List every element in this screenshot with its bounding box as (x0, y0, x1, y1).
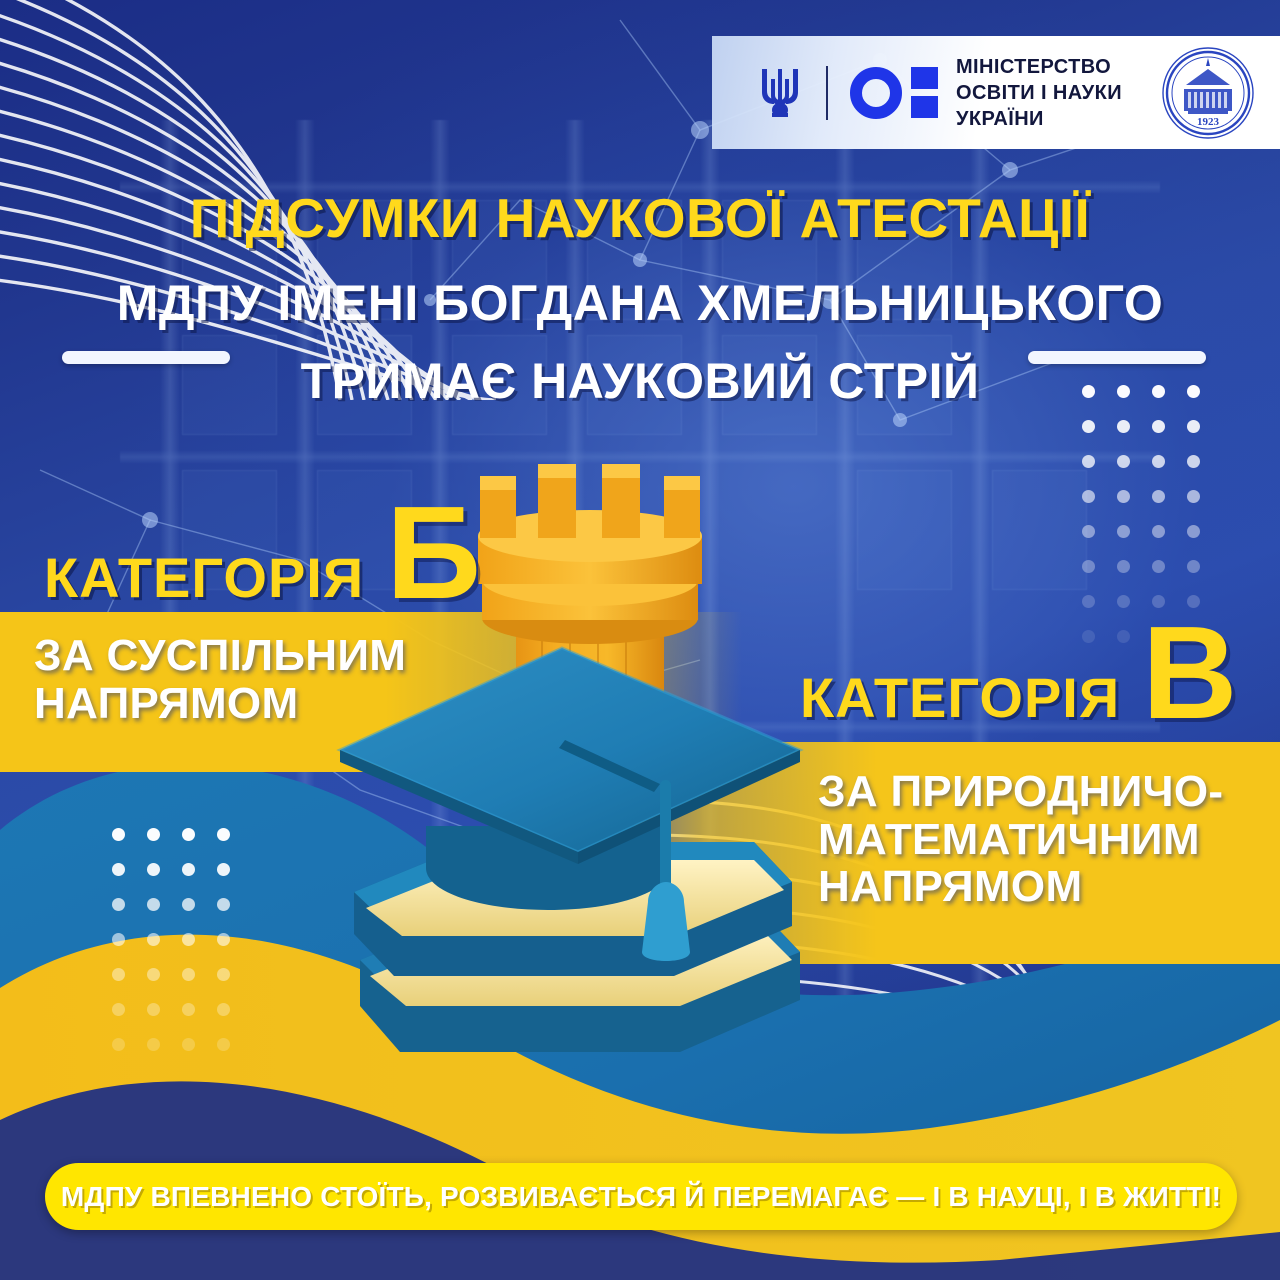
title-line-2: МДПУ ІМЕНІ БОГДАНА ХМЕЛЬНИЦЬКОГО (0, 274, 1280, 332)
ukraine-trident-icon (758, 65, 802, 121)
category-v-subtitle-line-1: ЗА ПРИРОДНИЧО- (818, 768, 1223, 816)
category-v-letter: В (1142, 620, 1237, 726)
category-b-word: КАТЕГОРІЯ (44, 550, 364, 606)
mdpu-university-seal-icon: 1923 (1160, 45, 1256, 141)
seal-year: 1923 (1197, 116, 1220, 128)
dot-grid-left (112, 828, 230, 1051)
category-b-subtitle-line-1: ЗА СУСПІЛЬНИМ (34, 632, 406, 680)
title-line-1: ПІДСУМКИ НАУКОВОЇ АТЕСТАЦІЇ (0, 186, 1280, 250)
title-accent-bar-right (1028, 351, 1206, 364)
category-v-word: КАТЕГОРІЯ (800, 670, 1120, 726)
ministry-line-2: ОСВІТИ І НАУКИ (956, 80, 1122, 106)
category-b-subtitle: ЗА СУСПІЛЬНИМ НАПРЯМОМ (34, 632, 406, 727)
logo-divider (826, 66, 828, 120)
poster-canvas: МІНІСТЕРСТВО ОСВІТИ І НАУКИ УКРАЇНИ 1923 (0, 0, 1280, 1280)
ministry-line-1: МІНІСТЕРСТВО (956, 54, 1122, 80)
title-accent-bar-left (62, 351, 230, 364)
category-b-subtitle-line-2: НАПРЯМОМ (34, 680, 406, 728)
category-heading-v: КАТЕГОРІЯ В (800, 620, 1237, 726)
bottom-slogan-text: МДПУ ВПЕВНЕНО СТОЇТЬ, РОЗВИВАЄТЬСЯ Й ПЕР… (61, 1181, 1221, 1213)
osvita-o-logo-icon (850, 67, 938, 119)
ministry-line-3: УКРАЇНИ (956, 106, 1122, 132)
ministry-title: МІНІСТЕРСТВО ОСВІТИ І НАУКИ УКРАЇНИ (956, 54, 1122, 132)
category-heading-b: КАТЕГОРІЯ Б (44, 500, 481, 606)
category-b-letter: Б (386, 500, 481, 606)
category-v-subtitle: ЗА ПРИРОДНИЧО- МАТЕМАТИЧНИМ НАПРЯМОМ (818, 768, 1223, 911)
ministry-logo-bar: МІНІСТЕРСТВО ОСВІТИ І НАУКИ УКРАЇНИ 1923 (712, 36, 1280, 149)
bottom-slogan-banner: МДПУ ВПЕВНЕНО СТОЇТЬ, РОЗВИВАЄТЬСЯ Й ПЕР… (45, 1163, 1237, 1230)
category-v-subtitle-line-2: МАТЕМАТИЧНИМ (818, 816, 1223, 864)
category-v-subtitle-line-3: НАПРЯМОМ (818, 863, 1223, 911)
